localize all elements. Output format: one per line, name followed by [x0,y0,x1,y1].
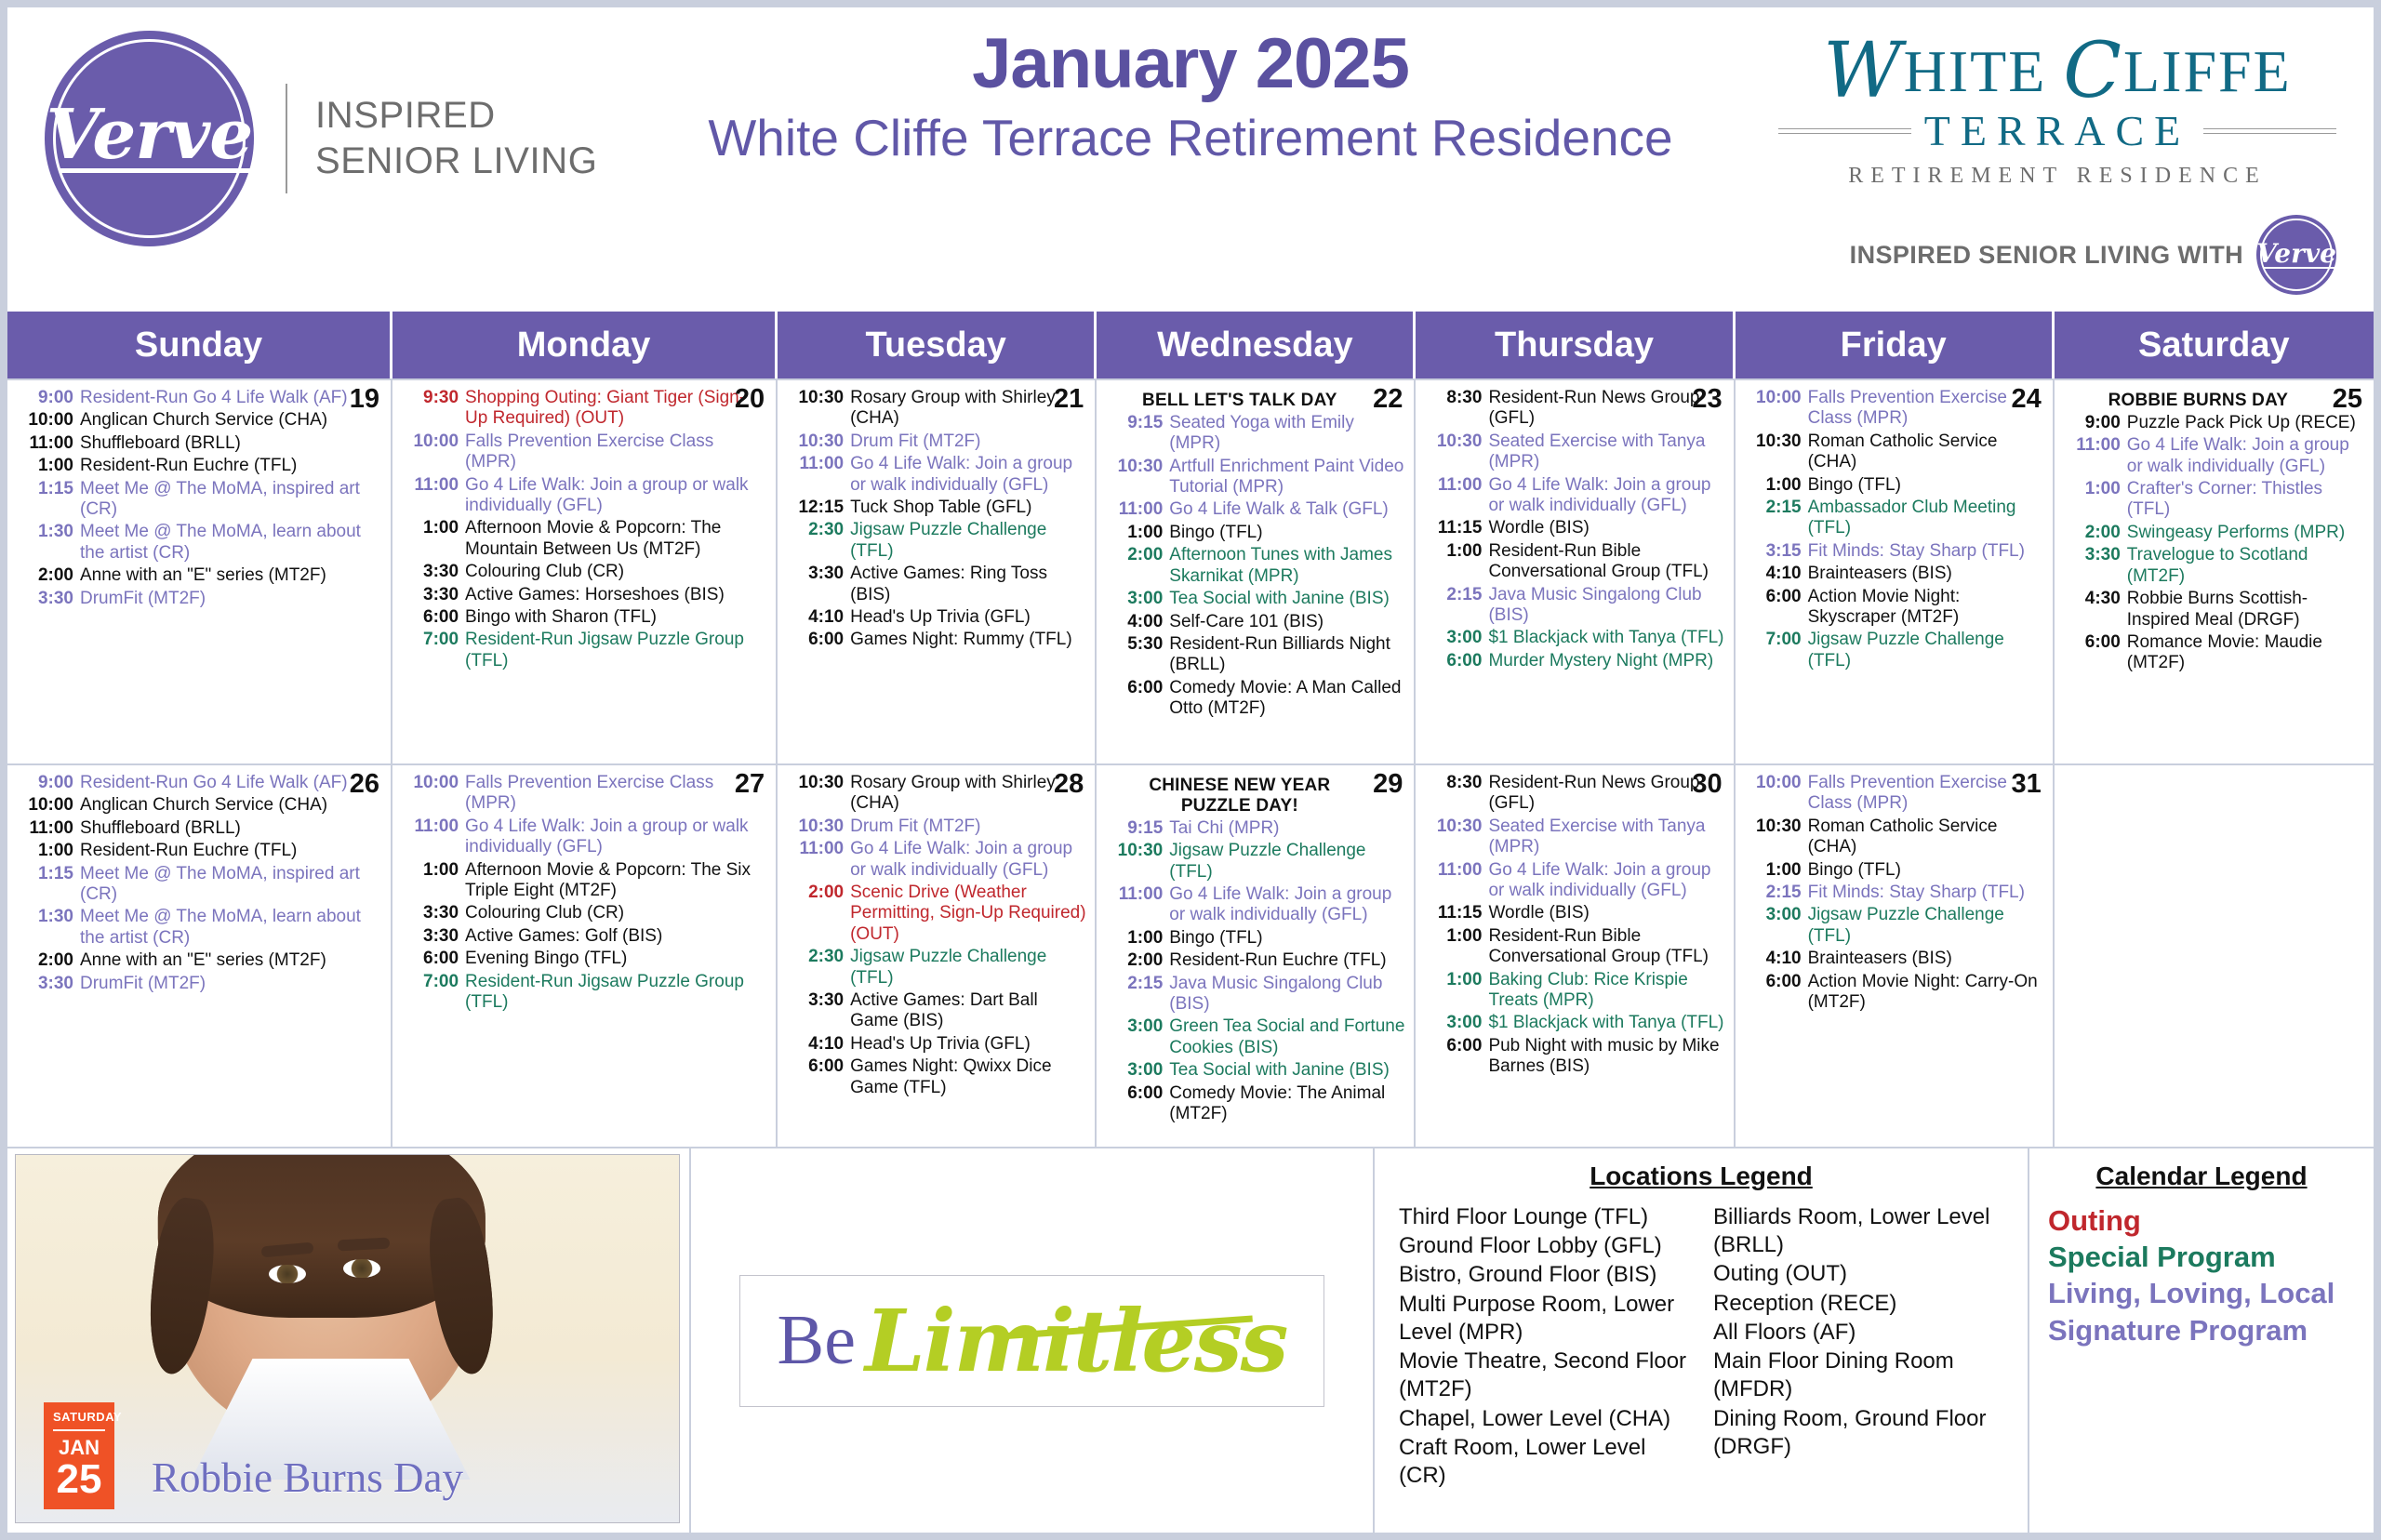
event-description: Go 4 Life Walk: Join a group or walk ind… [465,816,767,858]
event-description: Bingo (TFL) [1169,928,1405,949]
calendar-event[interactable]: 1:00Baking Club: Rice Krispie Treats (MP… [1424,970,1724,1012]
event-time: 4:10 [786,607,850,628]
event-description: Go 4 Life Walk: Join a group or walk ind… [850,454,1086,496]
event-description: Go 4 Life Walk: Join a group or walk ind… [465,475,767,517]
calendar-legend-item: Signature Program [2048,1313,2355,1347]
calendar-event[interactable]: 1:00Crafter's Corner: Thistles (TFL) [2063,479,2365,521]
event-description: $1 Blackjack with Tanya (TFL) [1488,628,1724,648]
location-legend-item: Reception (RECE) [1713,1290,2003,1318]
calendar-event[interactable]: 3:30DrumFit (MT2F) [16,974,382,994]
calendar-event[interactable]: 6:00Romance Movie: Maudie (MT2F) [2063,632,2365,674]
day-number: 26 [350,771,379,798]
day-number: 21 [1054,386,1084,413]
event-time: 10:00 [401,431,465,473]
event-time: 10:00 [401,773,465,815]
day-cell-22[interactable]: 22BELL LET'S TALK DAY9:15Seated Yoga wit… [1097,380,1416,763]
event-description: Green Tea Social and Fortune Cookies (BI… [1169,1016,1405,1058]
event-time: 1:15 [16,864,80,906]
calendar-event[interactable]: 11:00Go 4 Life Walk: Join a group or wal… [1105,884,1405,926]
calendar-event[interactable]: 6:00Murder Mystery Night (MPR) [1424,651,1724,671]
event-time: 3:00 [1424,628,1488,648]
calendar-event[interactable]: 2:00Anne with an "E" series (MT2F) [16,565,382,586]
event-time: 6:00 [1424,651,1488,671]
calendar-event[interactable]: 4:10Head's Up Trivia (GFL) [786,1034,1086,1055]
calendar-legend-item: Special Program [2048,1240,2355,1274]
event-time: 4:10 [786,1034,850,1055]
calendar-event[interactable]: 3:00Tea Social with Janine (BIS) [1105,589,1405,609]
event-description: Resident-Run Euchre (TFL) [1169,950,1405,971]
calendar-legend-item: Outing [2048,1203,2355,1238]
day-number: 31 [2012,771,2042,798]
calendar-event[interactable]: 2:15Fit Minds: Stay Sharp (TFL) [1744,883,2044,903]
day-number: 20 [735,386,765,413]
event-description: Afternoon Tunes with James Skarnikat (MP… [1169,545,1405,587]
event-time: 11:00 [1424,475,1488,517]
calendar-event[interactable]: 3:30Active Games: Ring Toss (BIS) [786,564,1086,605]
limitless-word-text: Limitless [865,1291,1287,1391]
calendar-event[interactable]: 6:00Action Movie Night: Skyscraper (MT2F… [1744,587,2044,629]
calendar-event[interactable]: 9:00Resident-Run Go 4 Life Walk (AF) [16,773,382,793]
event-description: Wordle (BIS) [1488,518,1724,538]
calendar-event[interactable]: 6:00Comedy Movie: The Animal (MT2F) [1105,1083,1405,1125]
event-time: 3:30 [401,926,465,947]
event-time: 10:00 [16,795,80,816]
event-description: Meet Me @ The MoMA, learn about the arti… [80,907,382,949]
event-description: Active Games: Golf (BIS) [465,926,767,947]
calendar-event[interactable]: 9:00Puzzle Pack Pick Up (RECE) [2063,413,2365,433]
event-description: Active Games: Dart Ball Game (BIS) [850,990,1086,1032]
calendar-event[interactable]: 11:00Go 4 Life Walk: Join a group or wal… [786,454,1086,496]
calendar-event[interactable]: 11:00Go 4 Life Walk: Join a group or wal… [2063,435,2365,477]
event-description: Colouring Club (CR) [465,562,767,582]
event-description: DrumFit (MT2F) [80,974,382,994]
calendar-event[interactable]: 4:00Self-Care 101 (BIS) [1105,612,1405,632]
calendar-event[interactable]: 10:00Anglican Church Service (CHA) [16,795,382,816]
event-time: 2:15 [1105,974,1169,1016]
event-description: Self-Care 101 (BIS) [1169,612,1405,632]
event-description: Falls Prevention Exercise Class (MPR) [1808,388,2044,430]
verve-tagline-line2: SENIOR LIVING [315,139,597,184]
calendar-event[interactable]: 2:00Scenic Drive (Weather Permitting, Si… [786,883,1086,945]
event-time: 1:00 [1105,523,1169,543]
event-time: 3:30 [786,564,850,605]
calendar-event[interactable]: 11:00Go 4 Life Walk: Join a group or wal… [401,816,767,858]
terrace-rule-right [2203,128,2336,134]
event-description: Resident-Run Euchre (TFL) [80,841,382,861]
calendar-event[interactable]: 3:00Jigsaw Puzzle Challenge (TFL) [1744,905,2044,947]
event-time: 4:00 [1105,612,1169,632]
day-cell-26[interactable]: 269:00Resident-Run Go 4 Life Walk (AF)10… [7,765,392,1147]
calendar-event[interactable]: 10:30Seated Exercise with Tanya (MPR) [1424,816,1724,858]
event-time: 10:30 [786,773,850,815]
event-time: 10:30 [1105,457,1169,498]
calendar-event[interactable]: 5:30Resident-Run Billiards Night (BRLL) [1105,634,1405,676]
calendar-event[interactable]: 1:00Resident-Run Euchre (TFL) [16,456,382,476]
calendar-event[interactable]: 10:30Roman Catholic Service (CHA) [1744,431,2044,473]
event-time: 5:30 [1105,634,1169,676]
locations-column-2: Billiards Room, Lower Level (BRLL)Outing… [1713,1203,2003,1491]
event-description: Resident-Run Jigsaw Puzzle Group (TFL) [465,972,767,1014]
calendar-event[interactable]: 1:00Resident-Run Bible Conversational Gr… [1424,926,1724,968]
calendar-event[interactable]: 11:00Go 4 Life Walk: Join a group or wal… [1424,860,1724,902]
day-number: 27 [735,771,765,798]
event-description: Resident-Run Jigsaw Puzzle Group (TFL) [465,630,767,671]
verve-tagline: INSPIRED SENIOR LIVING [315,93,597,184]
event-description: Meet Me @ The MoMA, inspired art (CR) [80,479,382,521]
calendar-event[interactable]: 11:00Go 4 Life Walk: Join a group or wal… [401,475,767,517]
event-time: 11:00 [1105,499,1169,520]
event-time: 10:30 [1744,816,1808,858]
calendar-event[interactable]: 10:00Falls Prevention Exercise Class (MP… [401,773,767,815]
event-description: Comedy Movie: The Animal (MT2F) [1169,1083,1405,1125]
event-description: Bingo (TFL) [1808,475,2044,496]
calendar-event[interactable]: 1:00Afternoon Movie & Popcorn: The Six T… [401,860,767,902]
event-description: DrumFit (MT2F) [80,589,382,609]
day-banner: BELL LET'S TALK DAY [1112,391,1366,411]
be-limitless-logo: Be Limitless [739,1275,1325,1407]
badge-weekday: SATURDAY [53,1410,105,1431]
calendar-event[interactable]: 1:00Resident-Run Euchre (TFL) [16,841,382,861]
day-cell-27[interactable]: 2710:00Falls Prevention Exercise Class (… [392,765,778,1147]
event-time: 3:00 [1424,1013,1488,1033]
event-description: Rosary Group with Shirley (CHA) [850,388,1086,430]
day-number: 23 [1692,386,1722,413]
white-cliffe-logo-block: WHITE CLIFFE TERRACE RETIREMENT RESIDENC… [1778,7,2374,295]
event-time: 2:00 [16,950,80,971]
calendar-event[interactable]: 9:00Resident-Run Go 4 Life Walk (AF) [16,388,382,408]
event-description: Resident-Run Billiards Night (BRLL) [1169,634,1405,676]
calendar-page: Verve INSPIRED SENIOR LIVING January 202… [7,7,2374,1533]
event-description: Tea Social with Janine (BIS) [1169,1060,1405,1081]
calendar-event[interactable]: 9:30Shopping Outing: Giant Tiger (Sign-U… [401,388,767,430]
event-description: Active Games: Ring Toss (BIS) [850,564,1086,605]
event-time: 1:00 [1744,860,1808,881]
calendar-event[interactable]: 2:00Swingeasy Performs (MPR) [2063,523,2365,543]
page-header: Verve INSPIRED SENIOR LIVING January 202… [7,7,2374,310]
weekday-header-monday: Monday [392,312,778,378]
event-description: Resident-Run News Group (GFL) [1488,388,1724,430]
event-time: 1:00 [1424,926,1488,968]
calendar-event[interactable]: 2:00Anne with an "E" series (MT2F) [16,950,382,971]
event-description: Swingeasy Performs (MPR) [2127,523,2365,543]
calendar-event[interactable]: 10:30Artfull Enrichment Paint Video Tuto… [1105,457,1405,498]
event-time: 2:00 [2063,523,2127,543]
event-time: 3:30 [401,585,465,605]
event-description: Seated Exercise with Tanya (MPR) [1488,431,1724,473]
event-time: 6:00 [1105,678,1169,720]
calendar-event[interactable]: 3:30Active Games: Dart Ball Game (BIS) [786,990,1086,1032]
event-time: 2:15 [1424,585,1488,627]
event-time: 3:00 [1105,1060,1169,1081]
calendar-event[interactable]: 11:00Go 4 Life Walk: Join a group or wal… [1424,475,1724,517]
calendar-event[interactable]: 1:15Meet Me @ The MoMA, inspired art (CR… [16,864,382,906]
event-description: Go 4 Life Walk: Join a group or walk ind… [850,839,1086,881]
event-time: 6:00 [401,607,465,628]
event-time: 1:15 [16,479,80,521]
event-time: 9:15 [1105,818,1169,839]
day-cell-21[interactable]: 2110:30Rosary Group with Shirley (CHA)10… [778,380,1097,763]
calendar-event[interactable]: 4:10Head's Up Trivia (GFL) [786,607,1086,628]
event-time: 11:00 [1105,884,1169,926]
event-time: 9:15 [1105,413,1169,455]
event-description: Action Movie Night: Skyscraper (MT2F) [1808,587,2044,629]
calendar-event[interactable]: 7:00Resident-Run Jigsaw Puzzle Group (TF… [401,972,767,1014]
calendar-week-1: 199:00Resident-Run Go 4 Life Walk (AF)10… [7,378,2374,763]
page-title-month: January 2025 [603,28,1778,100]
event-time: 2:00 [1105,950,1169,971]
location-legend-item: All Floors (AF) [1713,1319,2003,1347]
event-description: Falls Prevention Exercise Class (MPR) [1808,773,2044,815]
event-time: 1:30 [16,907,80,949]
event-description: Action Movie Night: Carry-On (MT2F) [1808,972,2044,1014]
event-description: Go 4 Life Walk: Join a group or walk ind… [1488,475,1724,517]
calendar-event[interactable]: 11:15Wordle (BIS) [1424,903,1724,923]
calendar-event[interactable]: 10:30Seated Exercise with Tanya (MPR) [1424,431,1724,473]
event-time: 1:00 [1744,475,1808,496]
calendar-event[interactable]: 1:00Bingo (TFL) [1105,523,1405,543]
event-description: Brainteasers (BIS) [1808,564,2044,584]
limitless-be-text: Be [778,1300,856,1381]
event-time: 3:30 [401,562,465,582]
retirement-residence-label: RETIREMENT RESIDENCE [1778,164,2336,189]
event-time: 10:30 [1744,431,1808,473]
day-cell-20[interactable]: 209:30Shopping Outing: Giant Tiger (Sign… [392,380,778,763]
event-description: Anglican Church Service (CHA) [80,795,382,816]
event-time: 2:00 [16,565,80,586]
calendar-event[interactable]: 6:00Comedy Movie: A Man Called Otto (MT2… [1105,678,1405,720]
calendar-event[interactable]: 11:00Shuffleboard (BRLL) [16,433,382,454]
calendar-event[interactable]: 10:00Falls Prevention Exercise Class (MP… [1744,773,2044,815]
robbie-burns-date-badge: SATURDAY JAN 25 [44,1402,114,1509]
event-time: 10:30 [786,388,850,430]
calendar-event[interactable]: 4:10Brainteasers (BIS) [1744,949,2044,969]
event-description: Comedy Movie: A Man Called Otto (MT2F) [1169,678,1405,720]
locations-column-1: Third Floor Lounge (TFL)Ground Floor Lob… [1399,1203,1689,1491]
calendar-event[interactable]: 6:00Evening Bingo (TFL) [401,949,767,969]
event-description: $1 Blackjack with Tanya (TFL) [1488,1013,1724,1033]
calendar-event[interactable]: 3:00$1 Blackjack with Tanya (TFL) [1424,628,1724,648]
calendar-event[interactable]: 10:00Falls Prevention Exercise Class (MP… [1744,388,2044,430]
event-time: 6:00 [1424,1036,1488,1078]
event-description: Resident-Run Go 4 Life Walk (AF) [80,773,382,793]
event-time: 11:00 [1424,860,1488,902]
event-time: 8:30 [1424,773,1488,815]
calendar-event[interactable]: 9:15Tai Chi (MPR) [1105,818,1405,839]
calendar-event[interactable]: 3:00Tea Social with Janine (BIS) [1105,1060,1405,1081]
calendar-event[interactable]: 1:15Meet Me @ The MoMA, inspired art (CR… [16,479,382,521]
event-time: 3:30 [401,903,465,923]
calendar-event[interactable]: 11:00Shuffleboard (BRLL) [16,818,382,839]
calendar-event[interactable]: 8:30Resident-Run News Group (GFL) [1424,388,1724,430]
calendar-event[interactable]: 2:30Jigsaw Puzzle Challenge (TFL) [786,947,1086,989]
calendar-event[interactable]: 6:00Pub Night with music by Mike Barnes … [1424,1036,1724,1078]
calendar-event[interactable]: 3:00Green Tea Social and Fortune Cookies… [1105,1016,1405,1058]
calendar-event[interactable]: 6:00Action Movie Night: Carry-On (MT2F) [1744,972,2044,1014]
calendar-event[interactable]: 9:15Seated Yoga with Emily (MPR) [1105,413,1405,455]
day-cell-19[interactable]: 199:00Resident-Run Go 4 Life Walk (AF)10… [7,380,392,763]
robbie-burns-card: Robbie Burns Day SATURDAY JAN 25 [15,1154,680,1523]
event-time: 1:00 [1424,970,1488,1012]
day-number: 30 [1692,771,1722,798]
event-time: 2:00 [786,883,850,945]
verve-wordmark: Verve [47,95,253,175]
event-description: Resident-Run Go 4 Life Walk (AF) [80,388,382,408]
calendar-event[interactable]: 6:00Bingo with Sharon (TFL) [401,607,767,628]
event-description: Rosary Group with Shirley (CHA) [850,773,1086,815]
calendar-event[interactable]: 8:30Resident-Run News Group (GFL) [1424,773,1724,815]
event-description: Afternoon Movie & Popcorn: The Six Tripl… [465,860,767,902]
event-time: 1:00 [16,841,80,861]
event-description: Resident-Run Bible Conversational Group … [1488,926,1724,968]
calendar-event[interactable]: 10:00Falls Prevention Exercise Class (MP… [401,431,767,473]
event-time: 9:30 [401,388,465,430]
calendar-event[interactable]: 1:00Bingo (TFL) [1744,860,2044,881]
day-cell-23[interactable]: 238:30Resident-Run News Group (GFL)10:30… [1416,380,1735,763]
calendar-event[interactable]: 4:30Robbie Burns Scottish-Inspired Meal … [2063,589,2365,631]
verve-logo-icon: Verve [45,31,254,246]
calendar-event[interactable]: 11:00Go 4 Life Walk: Join a group or wal… [786,839,1086,881]
event-description: Roman Catholic Service (CHA) [1808,431,2044,473]
calendar-event[interactable]: 2:15Java Music Singalong Club (BIS) [1105,974,1405,1016]
calendar-event[interactable]: 10:30Drum Fit (MT2F) [786,816,1086,837]
event-time: 3:00 [1105,1016,1169,1058]
event-time: 2:15 [1744,498,1808,539]
event-description: Jigsaw Puzzle Challenge (TFL) [850,947,1086,989]
event-description: Colouring Club (CR) [465,903,767,923]
event-time: 2:00 [1105,545,1169,587]
calendar-legend-items: OutingSpecial ProgramLiving, Loving, Loc… [2048,1203,2355,1347]
event-description: Drum Fit (MT2F) [850,431,1086,452]
calendar-event[interactable]: 2:15Java Music Singalong Club (BIS) [1424,585,1724,627]
calendar-legend-item: Living, Loving, Local [2048,1276,2355,1310]
locations-legend-title: Locations Legend [1399,1162,2003,1191]
calendar-event[interactable]: 3:30Active Games: Golf (BIS) [401,926,767,947]
event-time: 10:30 [1424,816,1488,858]
event-time: 3:15 [1744,541,1808,562]
logo-divider [286,84,287,193]
calendar-event[interactable]: 1:00Afternoon Movie & Popcorn: The Mount… [401,518,767,560]
event-description: Romance Movie: Maudie (MT2F) [2127,632,2365,674]
calendar-event[interactable]: 1:00Resident-Run Bible Conversational Gr… [1424,541,1724,583]
event-time: 1:00 [401,860,465,902]
calendar-event[interactable]: 3:30DrumFit (MT2F) [16,589,382,609]
event-description: Drum Fit (MT2F) [850,816,1086,837]
calendar-event[interactable]: 3:00$1 Blackjack with Tanya (TFL) [1424,1013,1724,1033]
day-cell-empty[interactable] [2055,765,2374,1147]
robbie-burns-promo-cell: Robbie Burns Day SATURDAY JAN 25 [7,1148,691,1533]
event-time: 11:00 [786,839,850,881]
event-time: 7:00 [401,630,465,671]
day-cell-30[interactable]: 308:30Resident-Run News Group (GFL)10:30… [1416,765,1735,1147]
verve-tagline-line1: INSPIRED [315,93,597,139]
event-time: 3:30 [16,974,80,994]
calendar-event[interactable]: 6:00Games Night: Rummy (TFL) [786,630,1086,650]
day-cell-24[interactable]: 2410:00Falls Prevention Exercise Class (… [1736,380,2055,763]
day-number: 22 [1373,386,1403,413]
event-description: Wordle (BIS) [1488,903,1724,923]
bottom-row: Robbie Burns Day SATURDAY JAN 25 Be Limi… [7,1147,2374,1533]
calendar-event[interactable]: 10:30Rosary Group with Shirley (CHA) [786,773,1086,815]
calendar-event[interactable]: 6:00Games Night: Qwixx Dice Game (TFL) [786,1056,1086,1098]
calendar-event[interactable]: 2:00Resident-Run Euchre (TFL) [1105,950,1405,971]
day-banner: CHINESE NEW YEAR PUZZLE DAY! [1112,776,1366,816]
day-cell-25[interactable]: 25ROBBIE BURNS DAY9:00Puzzle Pack Pick U… [2055,380,2374,763]
event-time: 6:00 [1744,587,1808,629]
calendar-event[interactable]: 2:00Afternoon Tunes with James Skarnikat… [1105,545,1405,587]
event-description: Go 4 Life Walk: Join a group or walk ind… [2127,435,2365,477]
calendar-event[interactable]: 3:30Colouring Club (CR) [401,903,767,923]
calendar-event[interactable]: 3:30Travelogue to Scotland (MT2F) [2063,545,2365,587]
calendar-event[interactable]: 4:10Brainteasers (BIS) [1744,564,2044,584]
event-time: 6:00 [401,949,465,969]
day-number: 19 [350,386,379,413]
calendar-event[interactable]: 2:15Ambassador Club Meeting (TFL) [1744,498,2044,539]
event-description: Go 4 Life Walk: Join a group or walk ind… [1488,860,1724,902]
calendar-event[interactable]: 10:30Jigsaw Puzzle Challenge (TFL) [1105,841,1405,883]
event-time: 6:00 [1744,972,1808,1014]
portrait-hair-front [157,1154,485,1318]
calendar-event[interactable]: 10:30Rosary Group with Shirley (CHA) [786,388,1086,430]
calendar-event[interactable]: 3:30Active Games: Horseshoes (BIS) [401,585,767,605]
event-description: Artfull Enrichment Paint Video Tutorial … [1169,457,1405,498]
event-description: Falls Prevention Exercise Class (MPR) [465,773,767,815]
calendar-event[interactable]: 12:15Tuck Shop Table (GFL) [786,498,1086,518]
calendar-legend-cell: Calendar Legend OutingSpecial ProgramLiv… [2029,1148,2374,1533]
calendar-event[interactable]: 3:30Colouring Club (CR) [401,562,767,582]
day-cell-31[interactable]: 3110:00Falls Prevention Exercise Class (… [1736,765,2055,1147]
event-description: Brainteasers (BIS) [1808,949,2044,969]
cliffe-rest: LIFFE [2123,38,2292,104]
event-description: Java Music Singalong Club (BIS) [1169,974,1405,1016]
weekday-header-friday: Friday [1736,312,2055,378]
day-cell-28[interactable]: 2810:30Rosary Group with Shirley (CHA)10… [778,765,1097,1147]
calendar-event[interactable]: 11:00Go 4 Life Walk & Talk (GFL) [1105,499,1405,520]
event-description: Bingo (TFL) [1808,860,2044,881]
event-time: 6:00 [786,1056,850,1098]
calendar-event[interactable]: 10:30Roman Catholic Service (CHA) [1744,816,2044,858]
calendar-event[interactable]: 3:15Fit Minds: Stay Sharp (TFL) [1744,541,2044,562]
calendar-legend-title: Calendar Legend [2048,1162,2355,1191]
event-time: 9:00 [16,388,80,408]
event-description: Murder Mystery Night (MPR) [1488,651,1724,671]
calendar-event[interactable]: 1:00Bingo (TFL) [1744,475,2044,496]
event-description: Pub Night with music by Mike Barnes (BIS… [1488,1036,1724,1078]
event-description: Jigsaw Puzzle Challenge (TFL) [1808,630,2044,671]
event-description: Seated Yoga with Emily (MPR) [1169,413,1405,455]
calendar-event[interactable]: 11:15Wordle (BIS) [1424,518,1724,538]
calendar-event[interactable]: 1:30Meet Me @ The MoMA, learn about the … [16,907,382,949]
weekday-header-thursday: Thursday [1416,312,1735,378]
calendar-event[interactable]: 10:00Anglican Church Service (CHA) [16,410,382,431]
event-time: 10:30 [1424,431,1488,473]
event-description: Shopping Outing: Giant Tiger (Sign-Up Re… [465,388,767,430]
event-description: Robbie Burns Scottish-Inspired Meal (DRG… [2127,589,2365,631]
event-description: Resident-Run Bible Conversational Group … [1488,541,1724,583]
event-description: Games Night: Rummy (TFL) [850,630,1086,650]
event-time: 7:00 [1744,630,1808,671]
calendar-event[interactable]: 7:00Resident-Run Jigsaw Puzzle Group (TF… [401,630,767,671]
calendar-event[interactable]: 7:00Jigsaw Puzzle Challenge (TFL) [1744,630,2044,671]
calendar-event[interactable]: 2:30Jigsaw Puzzle Challenge (TFL) [786,520,1086,562]
event-description: Crafter's Corner: Thistles (TFL) [2127,479,2365,521]
white-cliffe-wordmark: WHITE CLIFFE [1778,28,2336,104]
calendar-event[interactable]: 1:30Meet Me @ The MoMA, learn about the … [16,522,382,564]
event-time: 12:15 [786,498,850,518]
day-cell-29[interactable]: 29CHINESE NEW YEAR PUZZLE DAY!9:15Tai Ch… [1097,765,1416,1147]
calendar-event[interactable]: 1:00Bingo (TFL) [1105,928,1405,949]
portrait-eye-left [269,1265,306,1283]
calendar-event[interactable]: 10:30Drum Fit (MT2F) [786,431,1086,452]
